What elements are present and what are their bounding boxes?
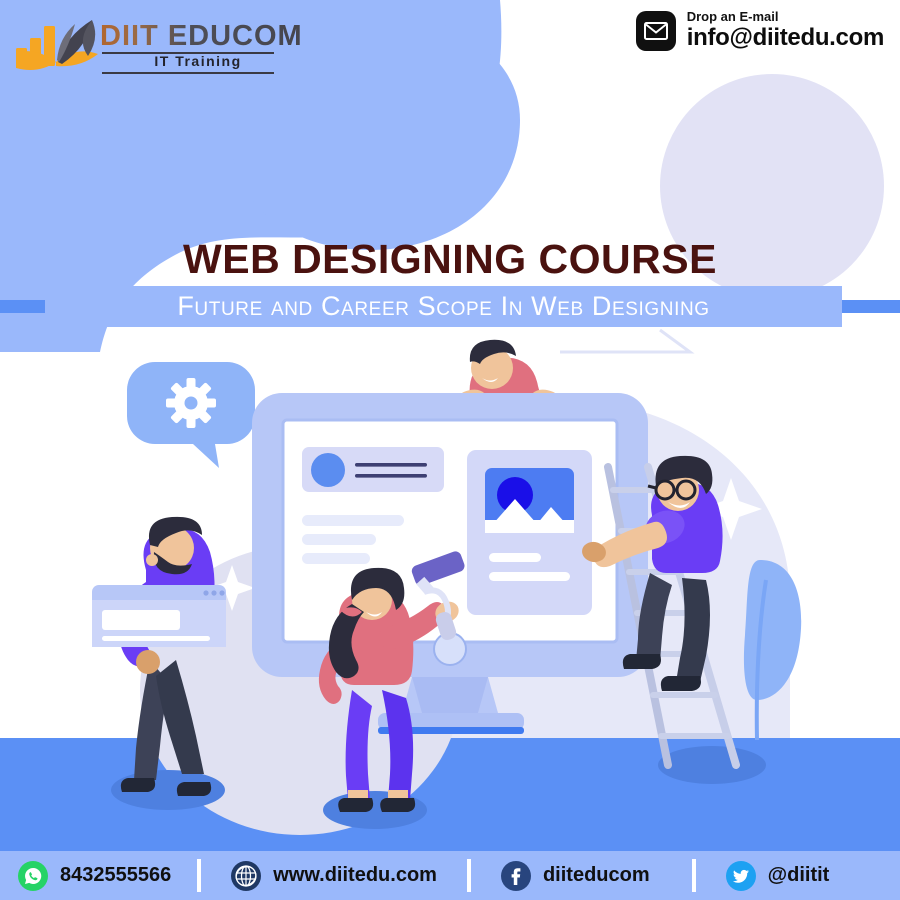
email-label: Drop an E-mail [687,10,884,25]
shoe-right [177,782,211,796]
subtitle-accent-bar-left [0,300,48,313]
browser-window-card [92,585,226,647]
gear-icon [166,378,216,428]
footer-item-twitter[interactable]: @diitit [696,851,830,900]
footer-label-phone: 8432555566 [60,864,171,887]
shoe-right [661,676,701,691]
wireframe-line-2 [302,534,376,545]
wireframe-line-3 [302,553,370,564]
footer-contact-bar: 8432555566 www.diitedu.com [0,851,900,900]
logo-subtitle: IT Training [114,53,282,71]
twitter-icon [726,861,756,891]
wrist [136,650,160,674]
globe-icon [231,861,261,891]
footer-item-website[interactable]: www.diitedu.com [201,851,437,900]
envelope-icon [636,11,676,51]
subtitle-band: Future and Career Scope In Web Designing [45,286,842,327]
logo-rule-bottom [102,72,274,74]
shoe-right [380,798,415,812]
whatsapp-icon [18,861,48,891]
footer-item-facebook[interactable]: diiteducom [471,851,650,900]
email-address: info@diitedu.com [687,25,884,51]
illustration-scene [0,330,900,830]
brand-logo[interactable]: DIIT EDUCOM IT Training [14,8,284,72]
email-text-group: Drop an E-mail info@diitedu.com [687,10,884,51]
footer-label-twitter: @diitit [768,864,830,887]
book-bars-logo-icon [14,12,98,70]
shoe-left [338,798,373,812]
gear-speech-bubble [127,362,255,468]
footer-label-website: www.diitedu.com [273,864,437,887]
subtitle-accent-bar-right [838,300,900,313]
monitor-neck-shade [412,677,488,713]
email-contact[interactable]: Drop an E-mail info@diitedu.com [636,10,884,51]
logo-title: DIIT EDUCOM [100,22,303,51]
shoe-left [623,654,661,669]
wireframe-card-media [467,450,592,615]
header-bar: DIIT EDUCOM IT Training Drop an E-mail i… [0,0,900,80]
footer-item-whatsapp[interactable]: 8432555566 [0,851,171,900]
logo-wordmark: DIIT EDUCOM [100,22,303,51]
wireframe-card-profile [302,447,444,492]
avatar [311,453,345,487]
facebook-icon [501,861,531,891]
image-placeholder-icon [485,468,574,533]
page-title: WEB DESIGNING COURSE [0,236,900,283]
shoe-left [121,778,155,792]
footer-label-facebook: diiteducom [543,864,650,887]
wireframe-line-1 [302,515,404,526]
man-with-browser-card [92,517,226,796]
poster-canvas: DIIT EDUCOM IT Training Drop an E-mail i… [0,0,900,900]
page-subtitle: Future and Career Scope In Web Designing [177,291,709,322]
